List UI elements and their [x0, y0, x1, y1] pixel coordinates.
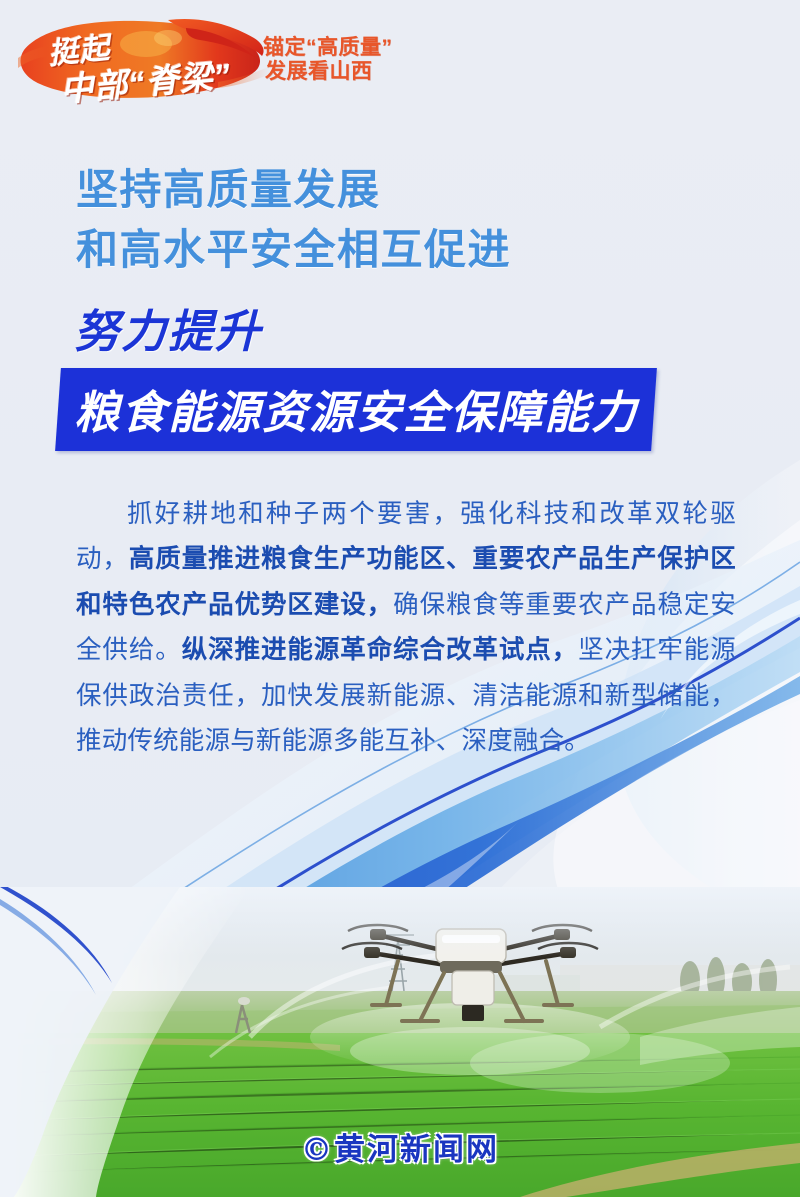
body-paragraph: 抓好耕地和种子两个要害，强化科技和改革双轮驱动，高质量推进粮食生产功能区、重要农…	[76, 492, 736, 764]
logo-brush-stroke-icon	[18, 8, 270, 108]
campaign-logo: 挺起 中部“脊梁”	[18, 8, 270, 108]
headline-banner-wrapper: 粮食能源资源安全保障能力	[0, 368, 800, 451]
headline-banner: 粮食能源资源安全保障能力	[55, 368, 657, 451]
watermark: ©黄河新闻网	[0, 1124, 800, 1169]
logo-subtitle-line-1: 锚定“高质量”	[263, 36, 393, 60]
headline-light-line-1: 坚持高质量发展	[0, 160, 800, 220]
body-segment-3: 纵深推进能源革命综合改革试点，	[182, 636, 578, 664]
poster-root: 挺起 中部“脊梁” 锚定“高质量” 发展看山西 坚持高质量发展 和高水平安全相互…	[0, 0, 800, 1197]
logo-subtitle: 锚定“高质量” 发展看山西	[263, 36, 393, 85]
headline-banner-text: 粮食能源资源安全保障能力	[74, 376, 638, 441]
headline-block: 坚持高质量发展 和高水平安全相互促进 努力提升 粮食能源资源安全保障能力	[0, 160, 800, 451]
poster-header: 挺起 中部“脊梁” 锚定“高质量” 发展看山西	[0, 0, 800, 118]
headline-strong-line: 努力提升	[0, 295, 800, 360]
headline-light-line-2: 和高水平安全相互促进	[0, 220, 800, 280]
logo-subtitle-line-2: 发展看山西	[263, 60, 393, 84]
